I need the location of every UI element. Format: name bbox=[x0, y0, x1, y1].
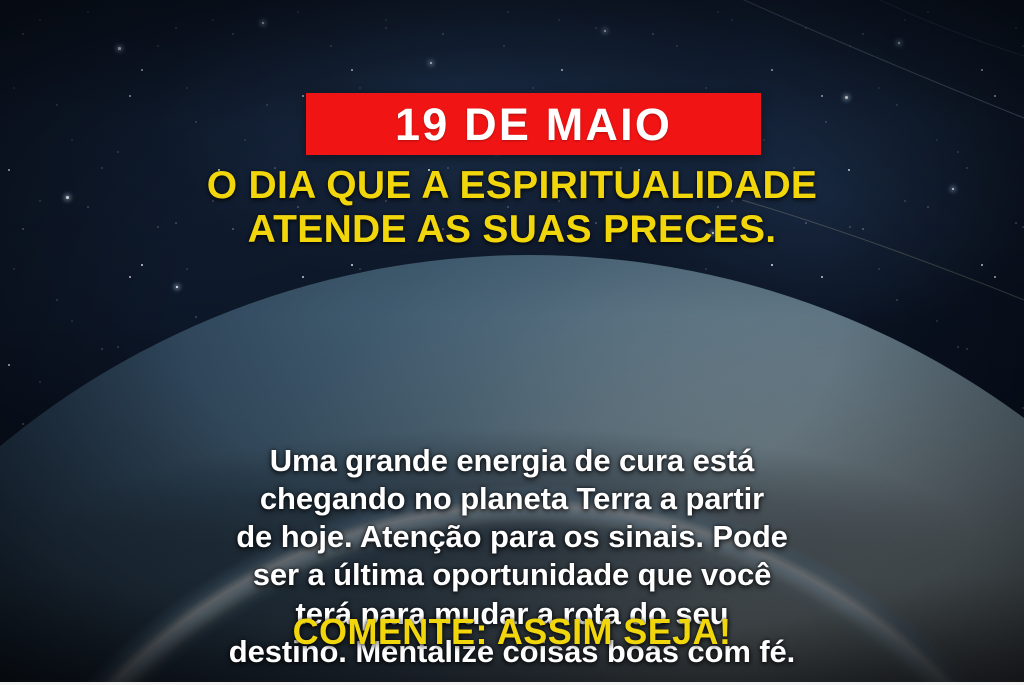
headline-line-1: O DIA QUE A ESPIRITUALIDADE bbox=[50, 164, 974, 208]
headline-line-2: ATENDE AS SUAS PRECES. bbox=[50, 208, 974, 252]
poster-content: 19 DE MAIO O DIA QUE A ESPIRITUALIDADE A… bbox=[0, 0, 1024, 685]
date-banner-label: 19 DE MAIO bbox=[395, 102, 672, 147]
body-line: chegando no planeta Terra a partir bbox=[52, 480, 972, 518]
date-banner: 19 DE MAIO bbox=[306, 93, 761, 155]
body-line: ser a última oportunidade que você bbox=[52, 556, 972, 594]
cta-text: COMENTE: ASSIM SEJA! bbox=[52, 612, 972, 652]
headline: O DIA QUE A ESPIRITUALIDADE ATENDE AS SU… bbox=[50, 164, 974, 252]
body-line: Uma grande energia de cura está bbox=[52, 442, 972, 480]
body-line: de hoje. Atenção para os sinais. Pode bbox=[52, 518, 972, 556]
poster-canvas: 19 DE MAIO O DIA QUE A ESPIRITUALIDADE A… bbox=[0, 0, 1024, 685]
